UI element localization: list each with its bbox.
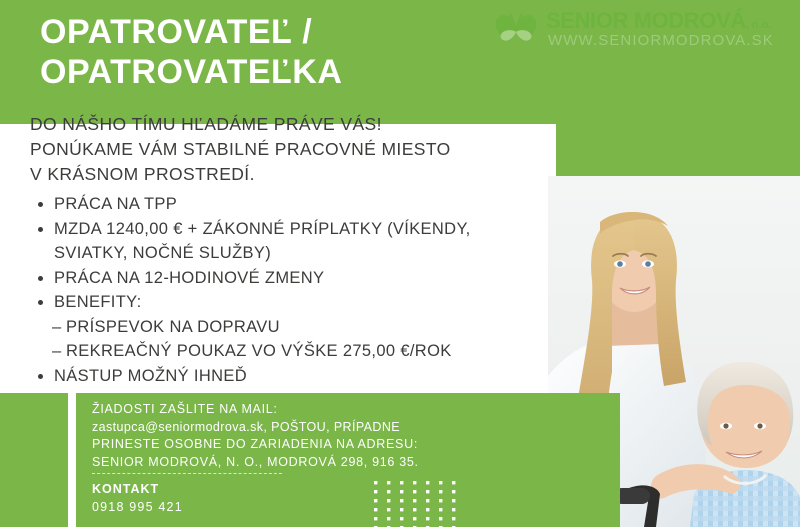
intro-line-3: V KRÁSNOM PROSTREDÍ. [30,162,550,187]
list-item-text-cont: SVIATKY, NOČNÉ SLUŽBY) [54,241,570,266]
contact-block: KONTAKT 0918 995 421 [92,480,332,516]
logo-name: SENIOR MODROVÁ, n.o. [546,8,771,34]
contact-label: KONTAKT [92,480,332,498]
butterfly-icon [492,10,540,54]
page-title: OPATROVATEĽ / OPATROVATEĽKA [40,12,520,92]
job-advert-poster: OPATROVATEĽ / OPATROVATEĽKA SENIOR MODRO… [0,0,800,527]
intro-line-2: PONÚKAME VÁM STABILNÉ PRACOVNÉ MIESTO [30,137,550,162]
footer-line-2-email: zastupca@seniormodrova.sk, POŠTOU, PRÍPA… [92,419,522,437]
sub-list-item-text: PRÍSPEVOK NA DOPRAVU [66,318,280,336]
contact-phone-number: 0918 995 421 [92,498,332,516]
sub-list-item: REKREAČNÝ POUKAZ VO VÝŠKE 275,00 €/ROK [30,339,570,364]
list-item: NÁSTUP MOŽNÝ IHNEĎ [30,364,570,389]
intro-paragraph: DO NÁŠHO TÍMU HĽADÁME PRÁVE VÁS! PONÚKAM… [30,112,550,187]
footer-line-1: ŽIADOSTI ZAŠLITE NA MAIL: [92,401,522,419]
dot-grid-decoration [374,481,494,527]
list-item: MZDA 1240,00 € + ZÁKONNÉ PRÍPLATKY (VÍKE… [30,217,570,266]
footer-accent-gap [68,393,76,527]
sub-list-item-text: REKREAČNÝ POUKAZ VO VÝŠKE 275,00 €/ROK [66,342,452,360]
sub-list-item: PRÍSPEVOK NA DOPRAVU [30,315,570,340]
list-item: PRÁCA NA TPP [30,192,570,217]
footer-line-3: PRINESTE OSOBNE DO ZARIADENIA NA ADRESU: [92,436,522,454]
footer-divider [92,473,282,474]
title-line-2: OPATROVATEĽKA [40,52,520,92]
title-line-1: OPATROVATEĽ / [40,13,312,51]
list-item: BENEFITY: [30,290,570,315]
benefits-list: PRÁCA NA TPP MZDA 1240,00 € + ZÁKONNÉ PR… [30,192,570,388]
logo-suffix: , n.o. [746,19,772,31]
logo-brand-text: SENIOR MODROVÁ [546,8,746,33]
list-item-text: NÁSTUP MOŽNÝ IHNEĎ [54,367,247,385]
intro-line-1: DO NÁŠHO TÍMU HĽADÁME PRÁVE VÁS! [30,112,550,137]
logo-website-url: WWW.SENIORMODROVA.SK [548,32,774,49]
list-item-text: PRÁCA NA 12-HODINOVÉ ZMENY [54,269,324,287]
application-instructions: ŽIADOSTI ZAŠLITE NA MAIL: zastupca@senio… [92,401,522,471]
list-item-text: PRÁCA NA TPP [54,195,177,213]
logo: SENIOR MODROVÁ, n.o. WWW.SENIORMODROVA.S… [492,8,794,60]
list-item: PRÁCA NA 12-HODINOVÉ ZMENY [30,266,570,291]
list-item-text: BENEFITY: [54,293,142,311]
footer-line-4-address: SENIOR MODROVÁ, N. O., MODROVÁ 298, 916 … [92,454,522,472]
list-item-text: MZDA 1240,00 € + ZÁKONNÉ PRÍPLATKY (VÍKE… [54,220,471,238]
